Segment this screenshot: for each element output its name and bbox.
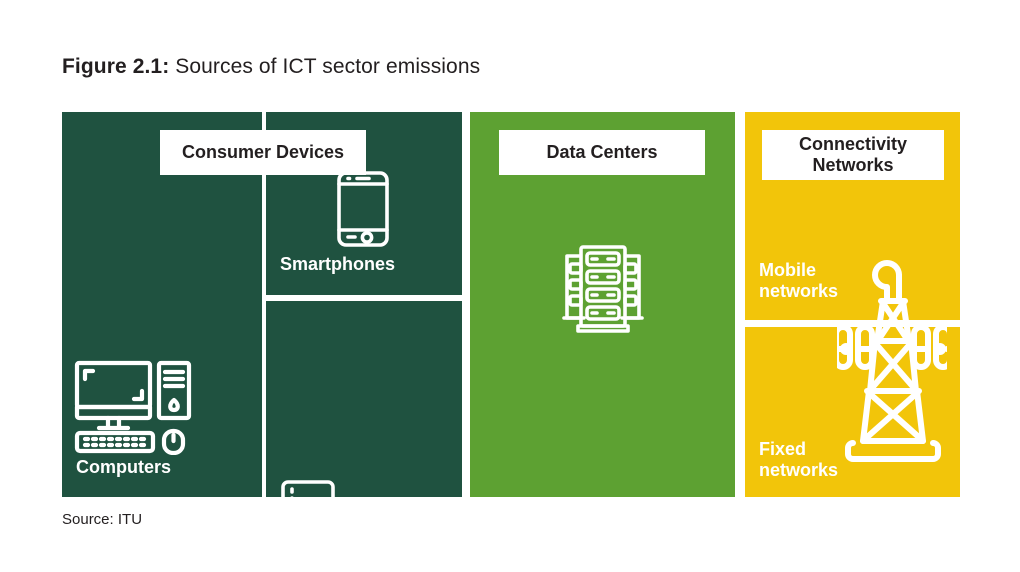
desktop-computer-icon bbox=[74, 360, 194, 455]
label-data-centers: Data Centers bbox=[499, 130, 705, 175]
label-connectivity-networks: Connectivity Networks bbox=[762, 130, 944, 180]
caption-fixed-networks: Fixed networks bbox=[759, 439, 838, 481]
figure-title-text: Sources of ICT sector emissions bbox=[175, 55, 480, 78]
caption-mobile-networks: Mobile networks bbox=[759, 260, 838, 302]
figure-number: Figure 2.1: bbox=[62, 55, 169, 78]
smartphone-icon bbox=[336, 170, 390, 248]
caption-smartphones: Smartphones bbox=[280, 254, 395, 275]
tablet-and-phone-icon bbox=[280, 479, 360, 497]
source-caption: Source: ITU bbox=[62, 511, 142, 528]
caption-computers: Computers bbox=[76, 457, 171, 478]
transmission-tower-icon bbox=[837, 245, 947, 467]
label-consumer-devices: Consumer Devices bbox=[160, 130, 366, 175]
panel-other[interactable]: Other bbox=[266, 301, 462, 497]
page-title: Figure 2.1: Sources of ICT sector emissi… bbox=[62, 55, 480, 79]
ict-emissions-diagram: Computers Smartphones bbox=[62, 112, 960, 497]
server-rack-icon bbox=[562, 242, 644, 334]
